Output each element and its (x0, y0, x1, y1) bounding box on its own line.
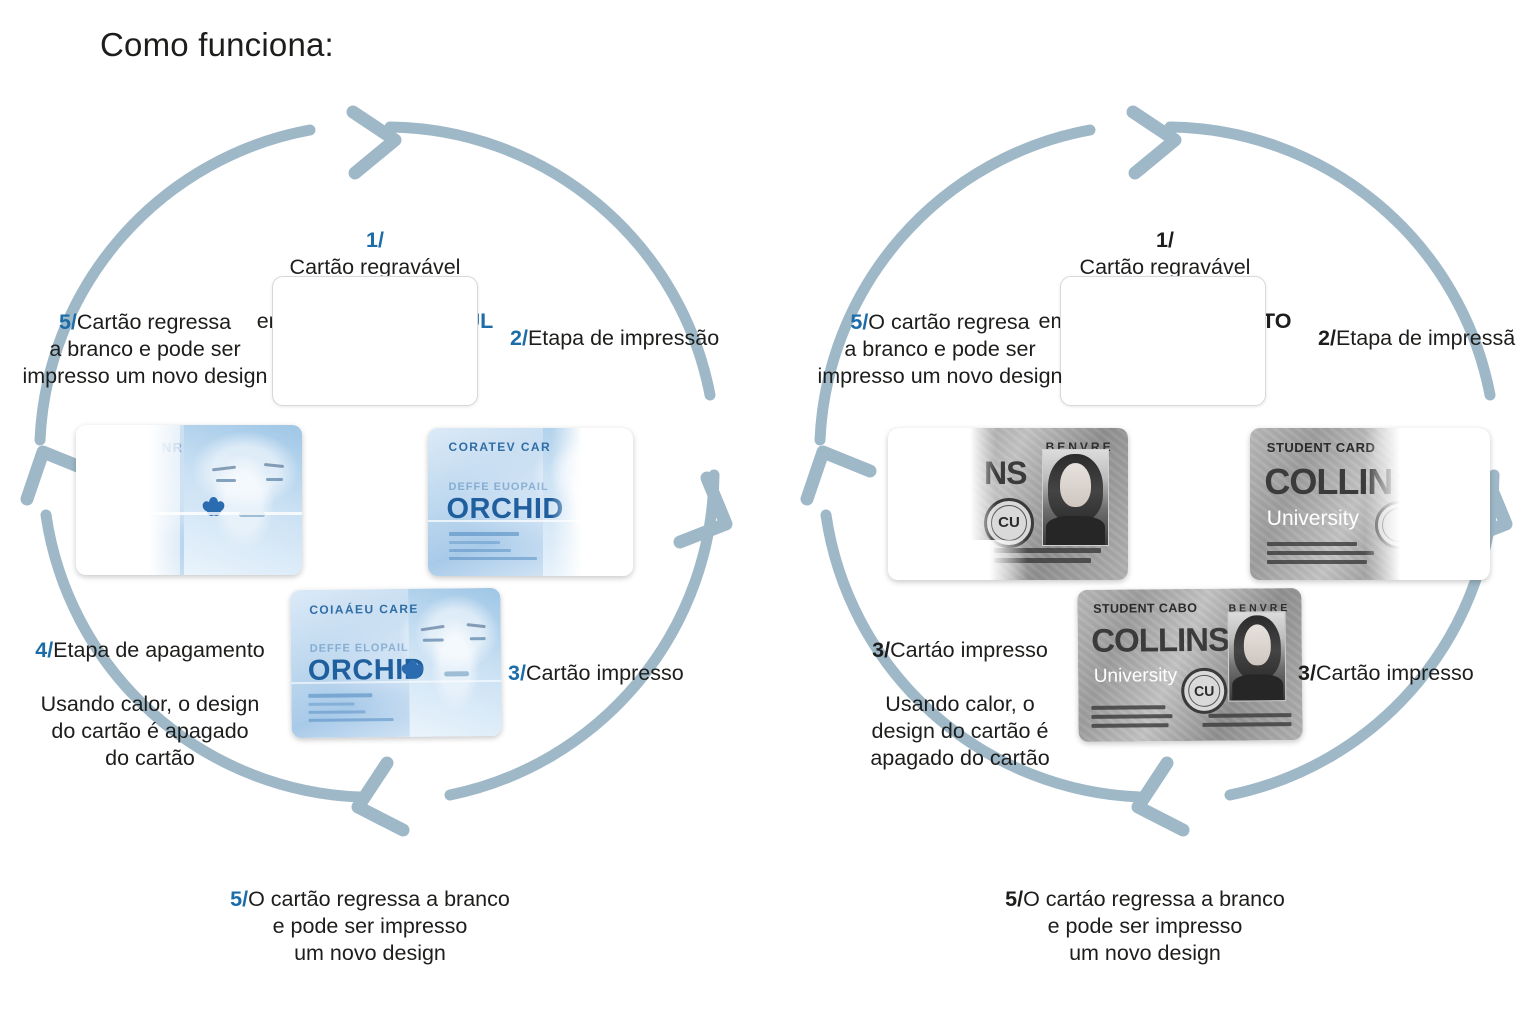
step5-side-label-right: 5/O cartão regresa a branco e pode ser i… (800, 282, 1080, 390)
step2-label-right: 2/Etapa de impressã (1318, 298, 1536, 352)
step5-side-label-left: 5/Cartão regressa a branco e pode ser im… (0, 282, 290, 390)
printed-orchid-card: COIAÁEU CARE DEFFE ELOPAIL ORCHID (290, 588, 502, 738)
cycle-black-card: 1/ Cartão regravável em branco CS201 PRE… (790, 95, 1520, 925)
blank-rewritable-card-left (272, 276, 478, 406)
step3-label-left: 3/Cartão impresso (508, 633, 758, 687)
step3-left-label-right: 3/Cartáo impresso Usando calor, o design… (820, 610, 1100, 772)
student-photo (1042, 449, 1109, 545)
printed-student-card: STUDENT CABO BENVRE COLLINS University C… (1077, 588, 1302, 742)
blank-rewritable-card-right (1060, 276, 1266, 406)
erased-spa-card-left: NR (76, 425, 302, 575)
infographic-page: Como funciona: (0, 0, 1536, 1024)
step5-bottom-label-right: 5/O cartáo regressa a branco e pode ser … (885, 859, 1405, 967)
university-seal-icon: CU (1181, 668, 1227, 714)
student-photo (1228, 611, 1287, 702)
step2-label-left: 2/Etapa de impressão (510, 298, 770, 352)
page-title: Como funciona: (100, 26, 334, 64)
step4-label-left: 4/Etapa de apagamento Usando calor, o de… (5, 610, 295, 772)
step5-bottom-label-left: 5/O cartão regressa a branco e pode ser … (110, 859, 630, 967)
erasing-orchid-card: CORATEV CAR DEFFE EUOPAIL ORCHID (428, 428, 633, 576)
erasing-student-card-right-face: BENVRE NS CU (888, 428, 1128, 580)
step3-right-label-right: 3/Cartão impresso (1298, 633, 1536, 687)
cycle-blue-card: 1/ Cartão regravável em branco CS101 AZU… (10, 95, 740, 925)
erasing-student-card-left-face: STUDENT CARD COLLIN University (1250, 428, 1490, 580)
orchid-flower-icon (402, 660, 422, 678)
